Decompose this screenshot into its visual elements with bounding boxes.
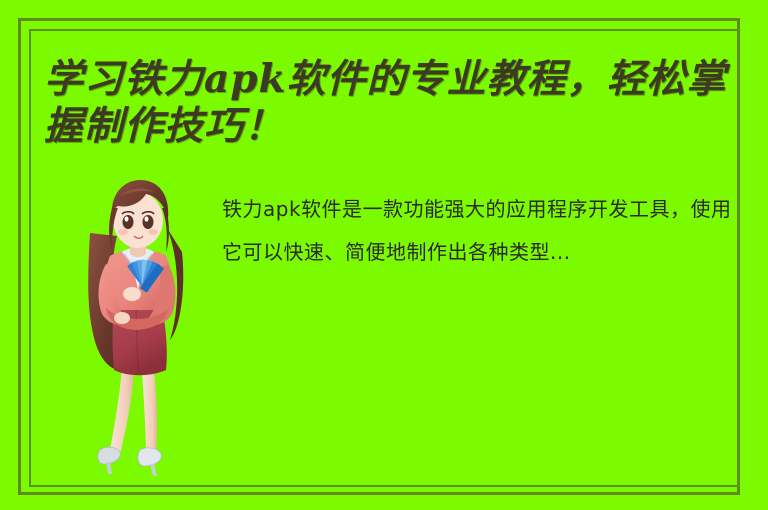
anime-girl-illustration <box>62 178 214 483</box>
page-title: 学习铁力apk软件的专业教程，轻松掌握制作技巧！ <box>44 56 744 150</box>
high-heel-shoes <box>98 447 161 476</box>
poster-canvas: 学习铁力apk软件的专业教程，轻松掌握制作技巧！ 铁力apk软件是一款功能强大的… <box>0 0 768 510</box>
legs <box>109 368 157 458</box>
body-paragraph: 铁力apk软件是一款功能强大的应用程序开发工具，使用它可以快速、简便地制作出各种… <box>222 188 740 274</box>
